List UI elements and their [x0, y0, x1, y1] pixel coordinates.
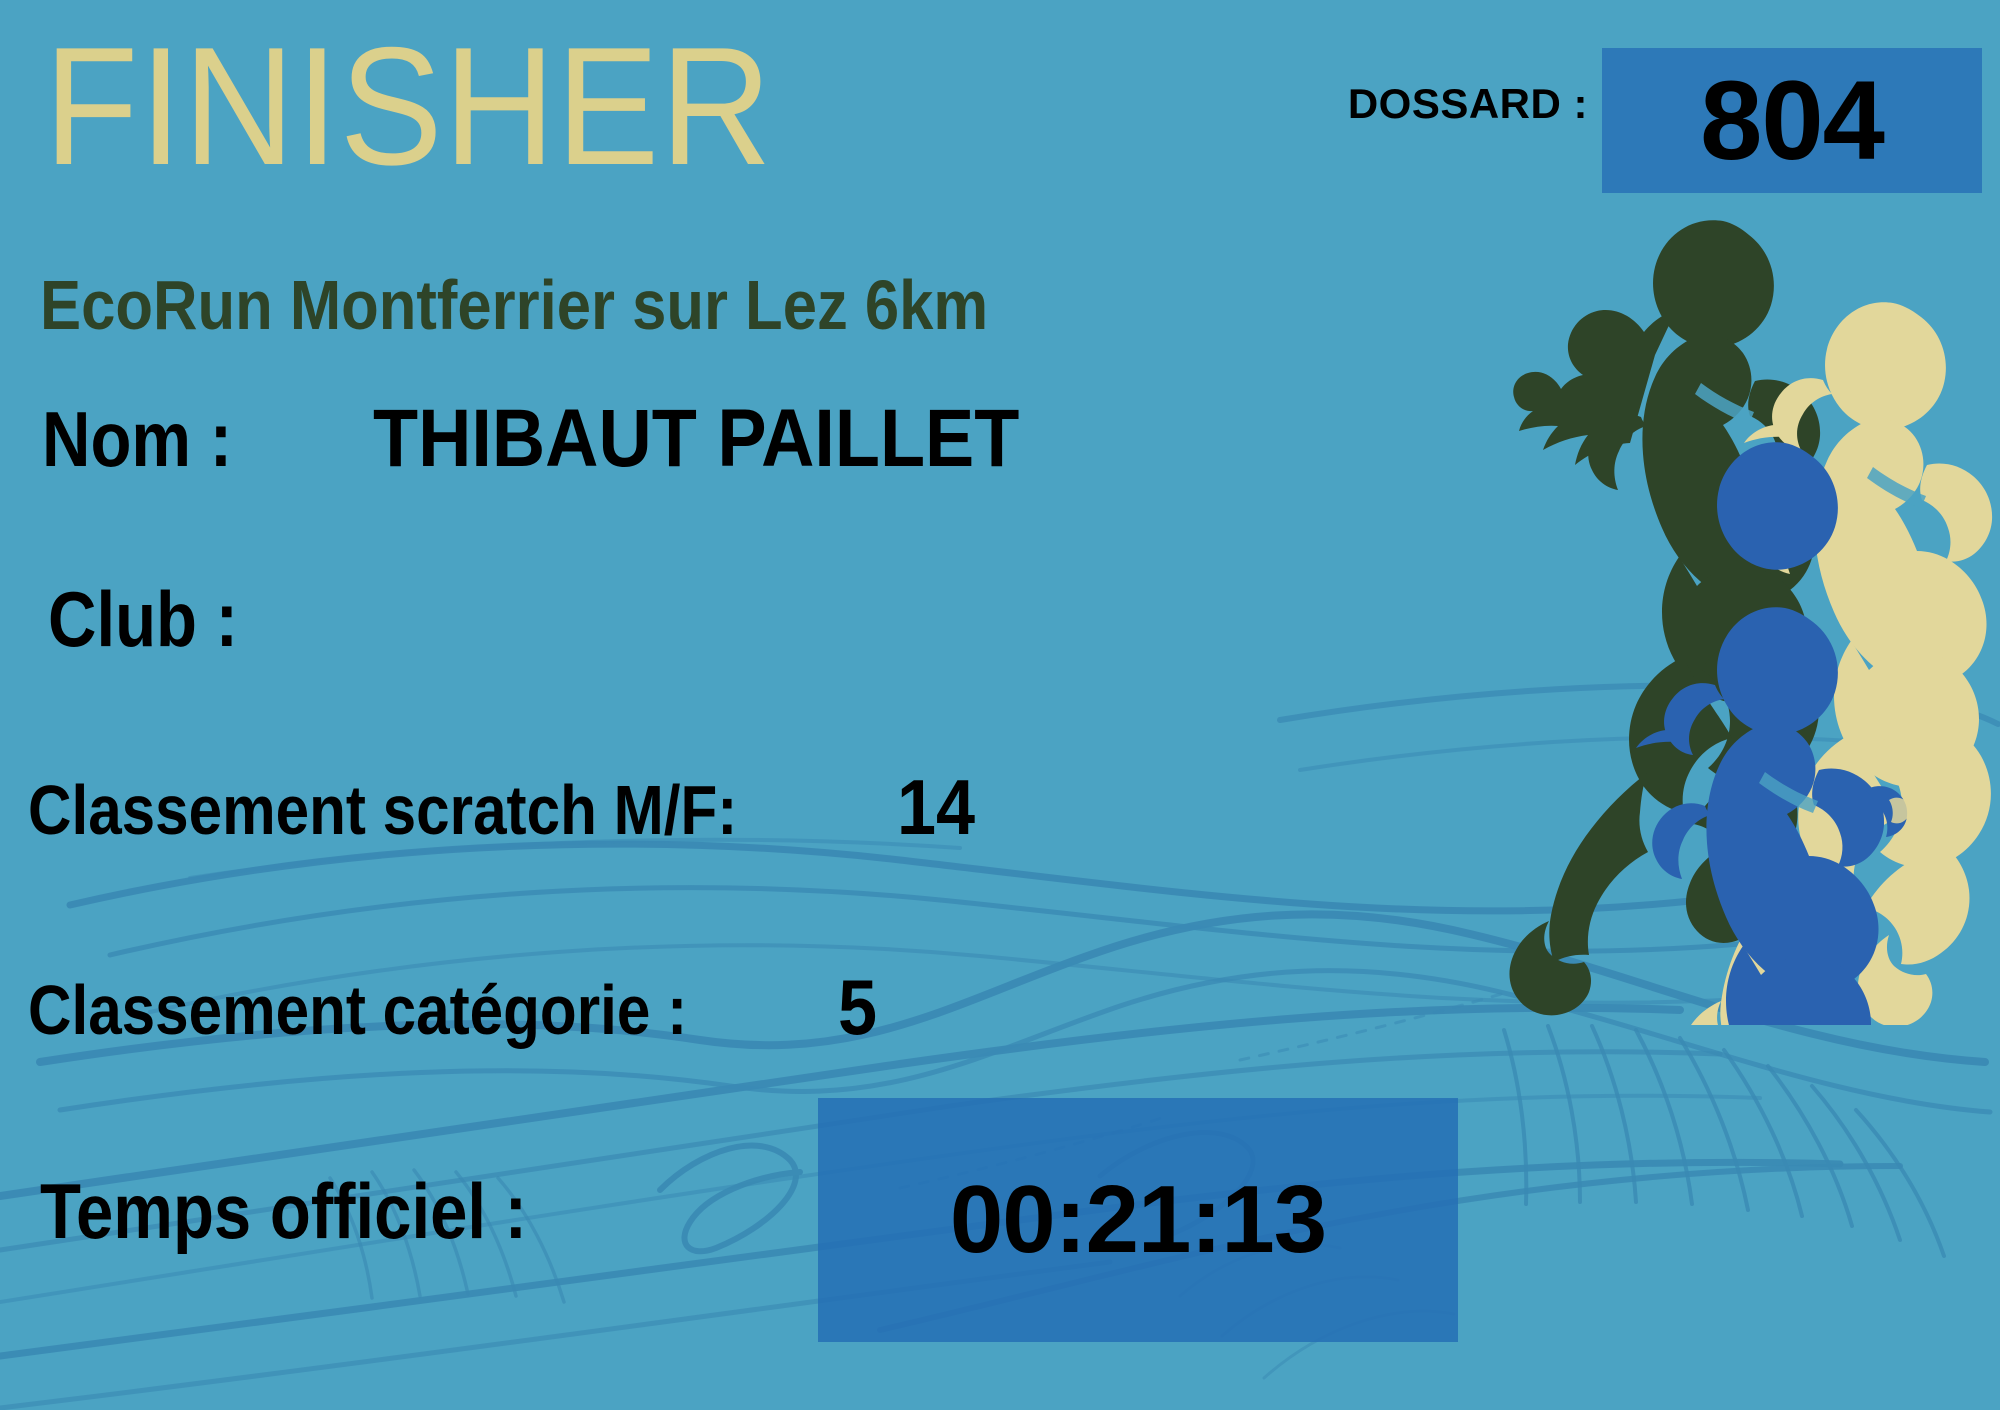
row-club: Club : — [48, 580, 339, 658]
runner-silhouette-cream — [1682, 302, 1992, 1025]
row-nom: Nom : THIBAUT PAILLET — [42, 398, 1091, 480]
runner-silhouette-blue — [1570, 442, 1909, 1025]
bib-number-value: 804 — [1700, 65, 1884, 177]
bib-number-box: 804 — [1602, 48, 1982, 193]
row-official-time: Temps officiel : — [40, 1172, 606, 1250]
official-time-value: 00:21:13 — [818, 1098, 1458, 1342]
bib-number-label: DOSSARD : — [1348, 80, 1588, 128]
nom-label: Nom : — [42, 400, 232, 478]
scratch-ranking-label: Classement scratch M/F: — [28, 775, 737, 845]
category-ranking-label: Classement catégorie : — [28, 975, 687, 1045]
club-label: Club : — [48, 580, 238, 658]
event-subtitle: EcoRun Montferrier sur Lez 6km — [40, 270, 988, 340]
row-scratch-ranking: Classement scratch M/F: 14 — [28, 768, 984, 846]
page-title: FINISHER — [44, 22, 773, 190]
nom-value: THIBAUT PAILLET — [373, 398, 1019, 480]
runner-silhouette-green — [1475, 220, 1820, 1015]
category-ranking-value: 5 — [838, 968, 877, 1046]
scratch-ranking-value: 14 — [897, 768, 975, 846]
finisher-certificate: FINISHER DOSSARD : 804 EcoRun Montferrie… — [0, 0, 2000, 1410]
row-category-ranking: Classement catégorie : 5 — [28, 968, 882, 1046]
runner-silhouettes-artwork — [1455, 205, 2000, 1025]
official-time-label: Temps officiel : — [40, 1172, 527, 1250]
